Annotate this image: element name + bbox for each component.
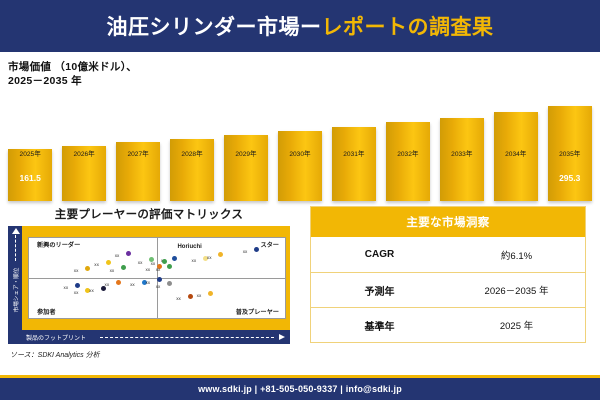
market-value-chart: 市場価値 （10億米ドル）、 2025－2035 年 161.5295.3 <box>0 54 600 201</box>
quadrant-label-participant: 参加者 <box>37 307 56 316</box>
matrix-data-point-label: xx <box>64 285 69 290</box>
matrix-data-point-label: xx <box>105 282 110 287</box>
matrix-data-point <box>218 252 223 257</box>
matrix-data-point <box>167 264 172 269</box>
insights-row-key: 基準年 <box>311 318 448 333</box>
insights-table-body: CAGR約6.1%予測年2026－2035 年基準年2025 年 <box>311 237 585 342</box>
matrix-data-point <box>106 260 111 265</box>
arrow-up-icon <box>12 228 20 234</box>
page-title: 油圧シリンダー市場ーレポートの調査果 <box>107 11 494 41</box>
matrix-data-point <box>116 280 121 285</box>
x-axis-tick-label: 2030年 <box>278 148 322 162</box>
matrix-y-axis: 市場シェア・順位 <box>8 226 22 330</box>
arrow-right-icon <box>279 334 285 340</box>
insights-row-value: 2025 年 <box>448 318 585 332</box>
insights-row-value: 約6.1% <box>448 248 585 262</box>
matrix-data-point <box>254 247 259 252</box>
bar <box>224 135 268 201</box>
matrix-data-point-label: xx <box>130 282 135 287</box>
x-axis-tick-label: 2033年 <box>440 148 484 162</box>
header-banner: 油圧シリンダー市場ーレポートの調査果 <box>0 0 600 54</box>
bar-value-label: 295.3 <box>548 173 592 183</box>
matrix-data-point <box>172 256 177 261</box>
matrix-data-point-label: xx <box>156 284 161 289</box>
infographic-page: 油圧シリンダー市場ーレポートの調査果 市場価値 （10億米ドル）、 2025－2… <box>0 0 600 400</box>
matrix-x-axis-label: 製品のフットプリント <box>26 333 86 342</box>
insights-table: 主要な市場洞察 CAGR約6.1%予測年2026－2035 年基準年2025 年 <box>310 206 586 343</box>
x-axis-tick-label: 2027年 <box>116 148 160 162</box>
x-axis-tick-label: 2034年 <box>494 148 538 162</box>
matrix-data-point <box>75 283 80 288</box>
matrix-frame: 新興のリーダー スター 参加者 普及プレーヤー Horiuchi xxxxxxx… <box>22 226 290 330</box>
matrix-data-point-label: xx <box>110 268 115 273</box>
matrix-data-point-label: xx <box>243 249 248 254</box>
matrix-x-axis-dashes <box>100 337 274 338</box>
footer-contact-text: www.sdki.jp | +81-505-050-9337 | info@sd… <box>198 384 402 394</box>
matrix-data-point-label: xx <box>145 280 150 285</box>
matrix-data-point-label: xx <box>138 260 143 265</box>
matrix-data-point <box>157 277 162 282</box>
chart-subtitle-line1: 市場価値 （10億米ドル）、 <box>8 60 592 74</box>
insights-row-key: 予測年 <box>311 283 448 298</box>
matrix-x-axis: 製品のフットプリント <box>8 330 290 344</box>
matrix-data-point-label: xx <box>156 267 161 272</box>
matrix-data-point-label: xx <box>115 253 120 258</box>
matrix-data-point-label: xx <box>197 293 202 298</box>
bar <box>278 131 322 201</box>
matrix-data-point <box>85 266 90 271</box>
matrix-data-point <box>162 259 167 264</box>
matrix-data-point-label: xx <box>145 267 150 272</box>
x-axis-tick-label: 2032年 <box>386 148 430 162</box>
quadrant-label-emerging-leader: 新興のリーダー <box>37 240 80 249</box>
matrix-data-point <box>167 281 172 286</box>
bar <box>332 127 376 201</box>
matrix-data-point <box>121 265 126 270</box>
matrix-wrap: 市場シェア・順位 新興のリーダー スター 参加者 普及プレーヤー Horiuch… <box>8 226 290 344</box>
insights-row-value: 2026－2035 年 <box>448 283 585 297</box>
matrix-data-point-label: xx <box>89 288 94 293</box>
matrix-highlight-player-label: Horiuchi <box>177 244 201 250</box>
lower-section: 主要プレーヤーの評価マトリックス 市場シェア・順位 新興のリーダー スター 参加… <box>0 202 600 365</box>
insights-row: 基準年2025 年 <box>311 307 585 342</box>
key-insights-panel: 主要な市場洞察 CAGR約6.1%予測年2026－2035 年基準年2025 年 <box>298 202 600 365</box>
insights-row: CAGR約6.1% <box>311 237 585 272</box>
x-axis-tick-label: 2028年 <box>170 148 214 162</box>
insights-row-key: CAGR <box>311 249 448 260</box>
matrix-data-point-label: xx <box>74 268 79 273</box>
matrix-data-point <box>126 251 131 256</box>
source-note: ソース：SDKI Analytics 分析 <box>10 350 100 360</box>
matrix-plot: 新興のリーダー スター 参加者 普及プレーヤー Horiuchi xxxxxxx… <box>28 237 286 319</box>
quadrant-label-star: スター <box>260 240 279 249</box>
matrix-data-point-label: xx <box>94 262 99 267</box>
x-axis-tick-label: 2031年 <box>332 148 376 162</box>
matrix-data-point <box>208 291 213 296</box>
insights-table-header: 主要な市場洞察 <box>311 207 585 237</box>
page-title-accent: レポートの調査果 <box>322 16 494 39</box>
evaluation-matrix-panel: 主要プレーヤーの評価マトリックス 市場シェア・順位 新興のリーダー スター 参加… <box>0 202 298 365</box>
matrix-data-point-label: xx <box>192 258 197 263</box>
chart-subtitle: 市場価値 （10億米ドル）、 2025－2035 年 <box>8 60 592 88</box>
matrix-y-axis-label: 市場シェア・順位 <box>12 250 20 330</box>
matrix-title: 主要プレーヤーの評価マトリックス <box>8 204 290 226</box>
quadrant-label-pervasive-player: 普及プレーヤー <box>236 307 279 316</box>
chart-x-axis-labels: 2025年2026年2027年2028年2029年2030年2031年2032年… <box>8 148 592 162</box>
matrix-data-point-label: xx <box>207 255 212 260</box>
page-title-primary: 油圧シリンダー市場ー <box>107 16 322 39</box>
matrix-data-point-label: xx <box>176 296 181 301</box>
chart-subtitle-line2: 2025－2035 年 <box>8 74 592 88</box>
x-axis-tick-label: 2025年 <box>8 148 52 162</box>
matrix-data-point-label: xx <box>74 290 79 295</box>
x-axis-tick-label: 2035年 <box>548 148 592 162</box>
matrix-data-point <box>188 294 193 299</box>
footer-banner: www.sdki.jp | +81-505-050-9337 | info@sd… <box>0 378 600 400</box>
x-axis-tick-label: 2026年 <box>62 148 106 162</box>
bar-value-label: 161.5 <box>8 173 52 183</box>
x-axis-tick-label: 2029年 <box>224 148 268 162</box>
insights-row: 予測年2026－2035 年 <box>311 272 585 307</box>
